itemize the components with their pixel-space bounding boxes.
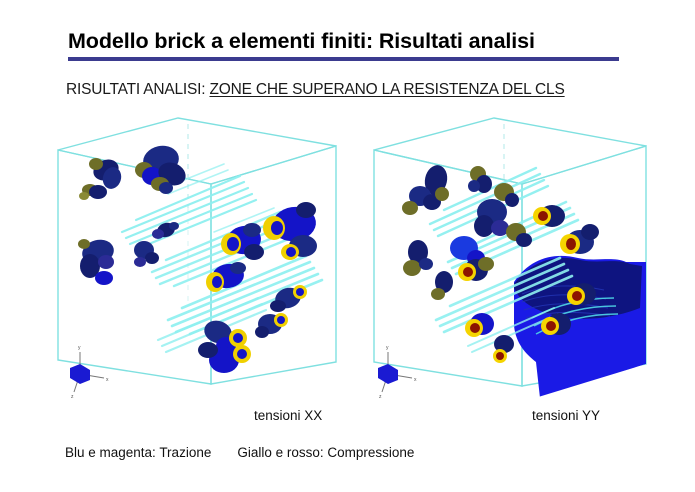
figure-tensioni-yy: y x z — [364, 112, 664, 402]
page-title: Modello brick a elementi finiti: Risulta… — [68, 28, 624, 54]
stress-blob — [402, 163, 450, 215]
subtitle-emphasis: ZONE CHE SUPERANO LA RESISTENZA DEL CLS — [210, 81, 565, 98]
figure-tensioni-xx: y x z — [48, 112, 348, 402]
slide-canvas: Modello brick a elementi finiti: Risulta… — [0, 0, 695, 492]
caption-tensioni-xx: tensioni XX — [254, 408, 322, 423]
legend-tension: Blu e magenta: Trazione — [65, 445, 211, 460]
legend-line: Blu e magenta: TrazioneGiallo e rosso: C… — [65, 445, 414, 460]
subtitle-prefix: RISULTATI ANALISI: — [66, 81, 210, 98]
svg-text:x: x — [414, 377, 417, 383]
title-underline-rule — [68, 57, 619, 61]
stress-blob — [221, 223, 264, 260]
caption-tensioni-yy: tensioni YY — [532, 408, 600, 423]
stress-blob — [270, 285, 307, 312]
svg-text:z: z — [379, 394, 382, 400]
stress-blob — [198, 317, 251, 373]
svg-text:x: x — [106, 377, 109, 383]
plot-tensioni-xx-svg: y x z — [48, 112, 348, 402]
title-block: Modello brick a elementi finiti: Risulta… — [68, 28, 624, 61]
axis-triad-yy: y x z — [378, 345, 417, 400]
stress-blob — [403, 240, 433, 276]
subtitle: RISULTATI ANALISI: ZONE CHE SUPERANO LA … — [66, 81, 565, 99]
stress-blob — [468, 166, 492, 193]
plot-tensioni-yy-svg: y x z — [364, 112, 664, 402]
legend-compression: Giallo e rosso: Compressione — [237, 445, 414, 460]
stress-blob — [560, 224, 599, 254]
svg-text:z: z — [71, 394, 74, 400]
stress-blob — [263, 202, 318, 260]
axis-triad-xx: y x z — [70, 345, 109, 400]
stress-blob — [78, 236, 116, 285]
stress-blob — [206, 262, 246, 292]
svg-text:y: y — [78, 345, 81, 351]
stress-blob — [431, 271, 453, 300]
stress-blob — [465, 313, 494, 337]
stress-blob — [152, 221, 179, 240]
stress-blob — [135, 143, 189, 194]
stress-blob — [458, 257, 494, 281]
stress-blob — [474, 199, 509, 237]
stress-blob — [533, 205, 565, 227]
stress-blob — [255, 313, 288, 338]
stress-blob — [493, 335, 514, 363]
svg-text:y: y — [386, 345, 389, 351]
stress-blob — [134, 241, 159, 267]
